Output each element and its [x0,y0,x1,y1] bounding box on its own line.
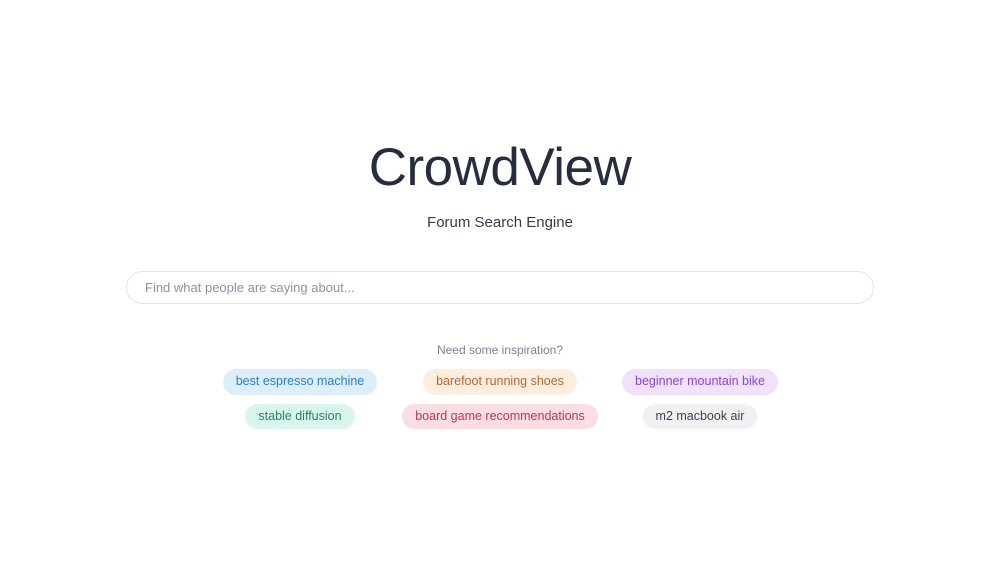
inspiration-label: Need some inspiration? [437,343,563,357]
chip-cell: barefoot running shoes [400,369,600,394]
suggestion-chip-best-espresso-machine[interactable]: best espresso machine [223,369,378,394]
chip-cell: board game recommendations [400,404,600,429]
suggestion-chip-list: best espresso machine barefoot running s… [200,369,800,429]
search-bar [126,271,874,304]
page-title: CrowdView [369,141,632,194]
suggestion-chip-stable-diffusion[interactable]: stable diffusion [245,404,354,429]
suggestion-chip-board-game-recommendations[interactable]: board game recommendations [402,404,598,429]
home-page: CrowdView Forum Search Engine Need some … [0,0,1000,563]
suggestion-chip-barefoot-running-shoes[interactable]: barefoot running shoes [423,369,577,394]
page-subtitle: Forum Search Engine [427,214,573,232]
chip-cell: beginner mountain bike [600,369,800,394]
search-input[interactable] [126,271,874,304]
chip-cell: stable diffusion [200,404,400,429]
chip-cell: m2 macbook air [600,404,800,429]
suggestion-chip-m2-macbook-air[interactable]: m2 macbook air [643,404,758,429]
chip-cell: best espresso machine [200,369,400,394]
suggestion-chip-beginner-mountain-bike[interactable]: beginner mountain bike [622,369,778,394]
